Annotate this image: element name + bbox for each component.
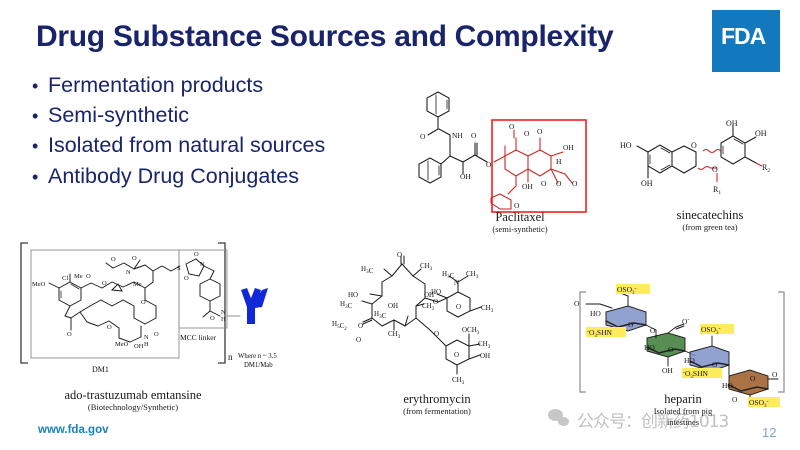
bullet-label: Fermentation products	[48, 74, 263, 97]
paclitaxel-sublabel: (semi-synthetic)	[470, 224, 570, 234]
erythromycin-caption: erythromycin (from fermentation)	[382, 392, 492, 417]
erythromycin-structure: O H3C CH3 HO H3C OH OH CH3 H5C2 O O CH3 …	[330, 254, 540, 394]
bullet-label: Semi-synthetic	[48, 104, 189, 127]
svg-text:O: O	[537, 127, 543, 136]
svg-text:O: O	[574, 299, 580, 308]
svg-text:O: O	[772, 370, 778, 379]
svg-text:H3C: H3C	[340, 300, 353, 310]
svg-text:CH3: CH3	[478, 340, 491, 350]
svg-text:O: O	[712, 360, 718, 369]
paclitaxel-caption: Paclitaxel (semi-synthetic)	[470, 210, 570, 235]
adc-name: ado-trastuzumab emtansine	[48, 388, 218, 402]
svg-text:O: O	[67, 331, 72, 338]
fda-logo-text: FDA	[721, 23, 765, 50]
svg-text:N: N	[454, 279, 459, 287]
svg-text:O: O	[420, 132, 426, 141]
svg-text:O: O	[210, 315, 215, 322]
antibody-icon	[241, 288, 268, 324]
bullet-label: Antibody Drug Conjugates	[48, 165, 299, 188]
svg-text:O: O	[541, 179, 547, 188]
svg-text:S: S	[177, 265, 181, 272]
svg-text:O: O	[397, 251, 402, 259]
wechat-logo-icon	[548, 409, 574, 429]
svg-text:O: O	[572, 179, 578, 188]
bullet-marker: •	[30, 137, 48, 155]
stoich-n-label: n	[228, 352, 233, 362]
svg-text:O: O	[524, 129, 530, 138]
sinecatechins-name: sinecatechins	[655, 208, 765, 222]
fda-logo: FDA	[712, 10, 780, 72]
svg-text:O: O	[356, 336, 361, 344]
svg-text:OH: OH	[662, 366, 673, 375]
paclitaxel-structure: O NH OH O O O O O OH H O OH O O O	[408, 86, 588, 211]
list-item: • Semi-synthetic	[30, 104, 325, 127]
svg-text:H3C: H3C	[374, 310, 387, 320]
svg-text:O: O	[433, 298, 438, 306]
svg-text:MeO: MeO	[32, 281, 46, 288]
svg-text:N: N	[200, 261, 205, 268]
svg-text:O: O	[194, 251, 199, 258]
stoich-note-line1: Where n ~ 3.5	[238, 353, 277, 360]
svg-text:OCH3: OCH3	[462, 326, 480, 336]
svg-text:O-: O-	[682, 317, 689, 326]
svg-text:OSO3-: OSO3-	[749, 398, 769, 409]
svg-text:OH: OH	[480, 352, 490, 360]
svg-text:OH: OH	[134, 343, 144, 350]
svg-text:R2: R2	[762, 163, 770, 174]
svg-text:OSO3-: OSO3-	[701, 325, 721, 336]
svg-text:H: H	[144, 341, 149, 348]
svg-text:O: O	[434, 330, 439, 338]
mcc-linker-label: MCC linker	[180, 333, 217, 342]
heparin-sublabel-2: intestines	[628, 417, 738, 427]
svg-text:-O3SHN: -O3SHN	[683, 369, 709, 380]
svg-text:O: O	[668, 345, 674, 354]
svg-text:O: O	[184, 275, 189, 282]
svg-text:OH: OH	[460, 172, 471, 181]
sinecatechins-sublabel: (from green tea)	[655, 222, 765, 232]
bullet-marker: •	[30, 77, 48, 95]
list-item: • Fermentation products	[30, 74, 325, 97]
svg-text:CH3: CH3	[388, 330, 401, 340]
svg-text:N: N	[221, 309, 226, 316]
heparin-structure: OSO3- HO -O3SHN O O O- HO OH OSO3- HO -O…	[572, 280, 794, 408]
svg-text:O: O	[509, 122, 515, 131]
svg-text:O: O	[628, 320, 634, 329]
svg-text:OH: OH	[641, 179, 653, 188]
svg-text:O: O	[86, 273, 91, 280]
svg-text:CH3: CH3	[466, 270, 479, 280]
svg-text:H5C2: H5C2	[332, 320, 347, 332]
svg-text:N: N	[144, 334, 149, 341]
svg-text:N: N	[126, 269, 131, 276]
svg-text:O: O	[141, 299, 146, 306]
svg-text:MeO: MeO	[115, 341, 129, 348]
list-item: • Antibody Drug Conjugates	[30, 165, 325, 188]
svg-text:H3C: H3C	[442, 270, 455, 280]
svg-text:O: O	[358, 322, 363, 330]
svg-text:Me: Me	[74, 273, 83, 280]
svg-text:H: H	[556, 157, 562, 166]
svg-text:OH: OH	[388, 302, 398, 310]
adc-sublabel: (Biotechnology/Synthetic)	[48, 402, 218, 412]
svg-text:NH: NH	[452, 131, 463, 140]
svg-text:OH: OH	[563, 143, 574, 152]
svg-text:O: O	[111, 256, 116, 263]
svg-text:O: O	[750, 374, 756, 383]
svg-text:OSO3-: OSO3-	[617, 285, 637, 296]
adc-caption: ado-trastuzumab emtansine (Biotechnology…	[48, 388, 218, 413]
svg-text:OH: OH	[522, 182, 533, 191]
page-title: Drug Substance Sources and Complexity	[36, 20, 613, 54]
adc-structure: MeO Cl Me O O O O N Me S O N O O N H O M…	[14, 238, 278, 386]
sinecatechins-caption: sinecatechins (from green tea)	[655, 208, 765, 233]
erythromycin-name: erythromycin	[382, 392, 492, 406]
dm1-box-label: DM1	[92, 365, 109, 374]
svg-text:Me: Me	[133, 281, 142, 288]
svg-text:O: O	[107, 324, 112, 331]
svg-text:CH3: CH3	[452, 376, 465, 386]
svg-text:HO: HO	[348, 291, 358, 299]
svg-text:OH: OH	[726, 119, 738, 128]
svg-text:O: O	[650, 326, 656, 335]
svg-text:O: O	[712, 165, 718, 174]
page-number: 12	[762, 425, 776, 440]
svg-text:R1: R1	[713, 185, 721, 196]
list-item: • Isolated from natural sources	[30, 134, 325, 157]
svg-text:HO: HO	[431, 288, 441, 296]
bullet-list: • Fermentation products • Semi-synthetic…	[30, 74, 325, 195]
sinecatechins-structure: HO O OH OH OH O R2 R1	[618, 120, 778, 208]
bullet-marker: •	[30, 168, 48, 186]
bullet-label: Isolated from natural sources	[48, 134, 325, 157]
svg-text:O: O	[514, 201, 520, 210]
heparin-name: heparin	[628, 392, 738, 406]
svg-text:-O3SHN: -O3SHN	[587, 328, 613, 339]
svg-text:O: O	[486, 160, 492, 169]
svg-text:O: O	[456, 303, 461, 311]
svg-text:Cl: Cl	[62, 275, 68, 282]
heparin-caption: heparin Isolated from pig intestines	[628, 392, 738, 427]
svg-text:O: O	[471, 131, 477, 140]
svg-text:HO: HO	[620, 141, 632, 150]
svg-text:CH3: CH3	[481, 304, 494, 314]
svg-text:O: O	[154, 331, 159, 338]
svg-text:OH: OH	[755, 129, 767, 138]
svg-text:O: O	[556, 179, 562, 188]
bullet-marker: •	[30, 107, 48, 125]
fda-website-link[interactable]: www.fda.gov	[38, 424, 109, 436]
svg-text:HO: HO	[684, 356, 695, 365]
svg-text:H3C: H3C	[361, 265, 374, 275]
slide-canvas: Drug Substance Sources and Complexity FD…	[0, 0, 800, 450]
svg-text:O: O	[691, 141, 697, 150]
svg-text:O: O	[102, 280, 107, 287]
heparin-sublabel-1: Isolated from pig	[628, 406, 738, 416]
svg-text:O: O	[454, 351, 459, 359]
stoich-note-line2: DM1/Mab	[244, 362, 273, 369]
svg-text:HO: HO	[590, 309, 601, 318]
svg-text:H: H	[221, 316, 226, 323]
svg-text:O: O	[132, 255, 137, 262]
erythromycin-sublabel: (from fermentation)	[382, 406, 492, 416]
svg-text:HO: HO	[722, 381, 733, 390]
svg-text:CH3: CH3	[420, 262, 433, 272]
svg-text:HO: HO	[644, 343, 655, 352]
paclitaxel-name: Paclitaxel	[470, 210, 570, 224]
